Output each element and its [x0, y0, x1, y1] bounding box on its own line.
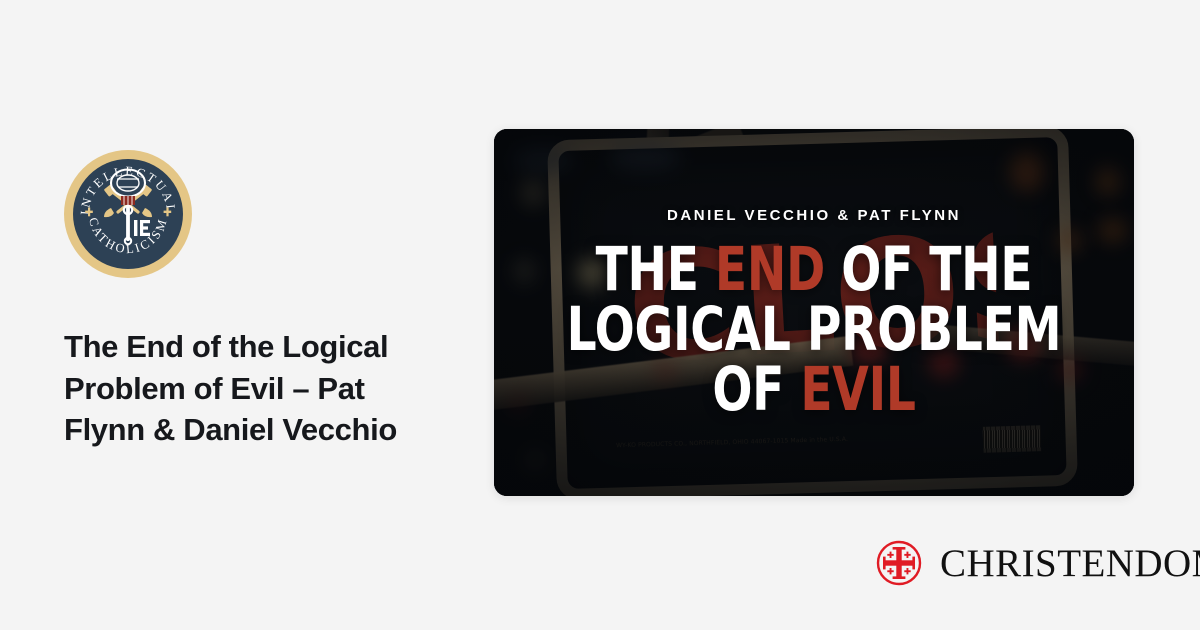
og-card-canvas: INTELLECTUAL CATHOLICISM: [0, 0, 1200, 630]
headline-accent-word: EVIL: [800, 354, 915, 425]
jerusalem-cross-icon: [876, 540, 922, 586]
christendom-wordmark: CHRISTENDOM: [940, 544, 1200, 583]
thumbnail-byline: Daniel Vecchio & Pat Flynn: [512, 207, 1116, 224]
left-column: INTELLECTUAL CATHOLICISM: [64, 150, 454, 451]
christendom-logo[interactable]: CHRISTENDOM: [876, 540, 1200, 586]
page-title: The End of the Logical Problem of Evil –…: [64, 326, 454, 451]
thumbnail-headline: THE END OF THE LOGICAL PROBLEM OF EVIL: [554, 240, 1073, 419]
episode-thumbnail-card[interactable]: CLOSED WY-KO PRODUCTS CO., NORTHFIELD, O…: [494, 129, 1134, 496]
thumbnail-text-block: Daniel Vecchio & Pat Flynn THE END OF TH…: [494, 207, 1134, 419]
intellectual-catholicism-seal-icon: INTELLECTUAL CATHOLICISM: [64, 150, 192, 278]
